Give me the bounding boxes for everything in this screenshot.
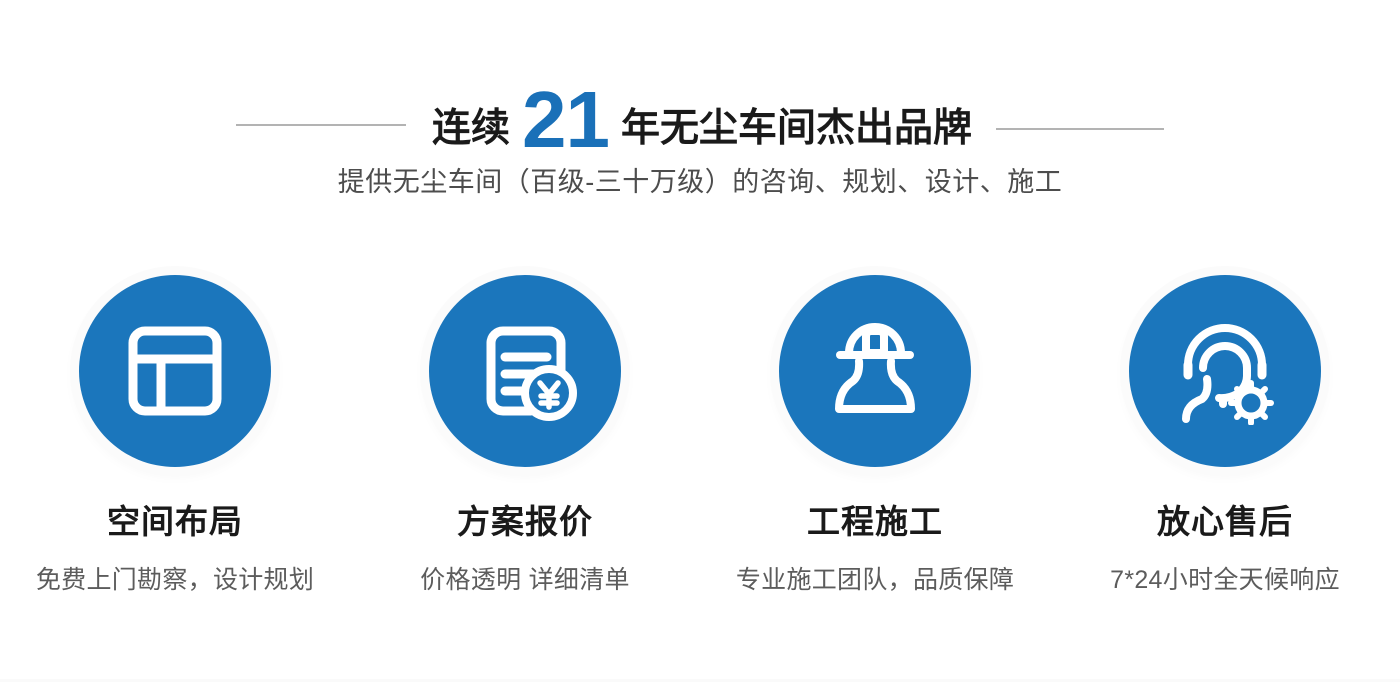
headset-support-gear-icon xyxy=(1171,317,1279,425)
feature-title: 方案报价 xyxy=(457,495,593,543)
headline-prefix: 连续 xyxy=(432,109,510,148)
feature-icon-badge xyxy=(779,275,971,467)
feature-desc: 7*24小时全天候响应 xyxy=(1110,560,1340,596)
feature-icon-badge xyxy=(429,275,621,467)
headline-number: 21 xyxy=(522,80,609,160)
feature-item-quotation[interactable]: 方案报价 价格透明 详细清单 xyxy=(355,255,695,635)
headline-rule-right xyxy=(996,128,1164,130)
document-yen-quote-icon xyxy=(471,317,579,425)
feature-item-space-layout[interactable]: 空间布局 免费上门勘察，设计规划 xyxy=(5,255,345,635)
header-banner: 连续 21 年无尘车间杰出品牌 提供无尘车间（百级-三十万级）的咨询、规划、设计… xyxy=(0,0,1400,230)
construction-worker-icon xyxy=(821,317,929,425)
gear-icon xyxy=(1231,383,1271,423)
feature-title: 放心售后 xyxy=(1157,495,1293,543)
feature-list: 空间布局 免费上门勘察，设计规划 xyxy=(0,255,1400,635)
headline-row: 连续 21 年无尘车间杰出品牌 xyxy=(0,78,1400,150)
feature-item-construction[interactable]: 工程施工 专业施工团队，品质保障 xyxy=(705,255,1045,635)
feature-icon-badge xyxy=(1129,275,1321,467)
headline-rule-left xyxy=(236,124,406,126)
headline: 连续 21 年无尘车间杰出品牌 xyxy=(432,74,972,154)
feature-item-after-sales[interactable]: 放心售后 7*24小时全天候响应 xyxy=(1055,255,1395,635)
feature-title: 工程施工 xyxy=(807,495,943,543)
feature-title: 空间布局 xyxy=(107,495,243,543)
feature-icon-badge xyxy=(79,275,271,467)
subheadline: 提供无尘车间（百级-三十万级）的咨询、规划、设计、施工 xyxy=(0,160,1400,199)
headline-suffix: 年无尘车间杰出品牌 xyxy=(621,109,972,148)
feature-desc: 价格透明 详细清单 xyxy=(420,560,630,596)
feature-desc: 免费上门勘察，设计规划 xyxy=(36,560,314,596)
layout-grid-icon xyxy=(121,317,229,425)
feature-desc: 专业施工团队，品质保障 xyxy=(736,560,1014,596)
